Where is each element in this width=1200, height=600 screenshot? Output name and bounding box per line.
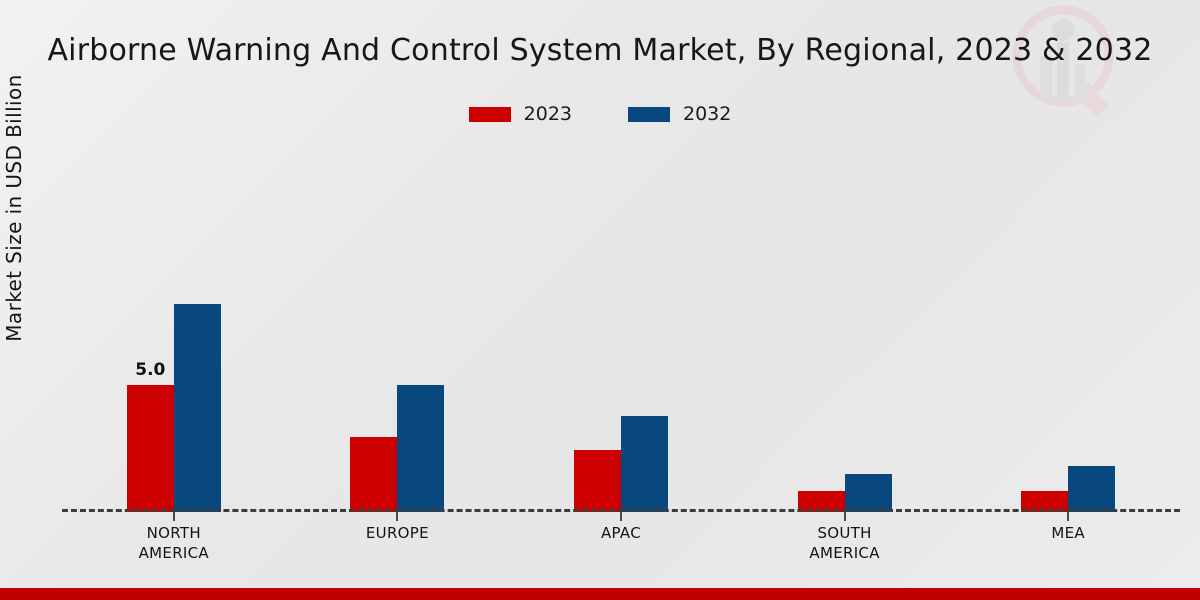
legend-item-2023[interactable]: 2023 [469, 105, 572, 124]
bar-column-2023[interactable] [574, 150, 621, 512]
bar-2032[interactable] [397, 385, 444, 512]
bar-column-2032[interactable] [174, 150, 221, 512]
bar-column-2032[interactable] [621, 150, 668, 512]
bar-2032[interactable] [1068, 466, 1115, 512]
bar-2023[interactable] [350, 437, 397, 512]
bar-column-2032[interactable] [397, 150, 444, 512]
legend-item-2032[interactable]: 2032 [628, 105, 731, 124]
chart-page: Airborne Warning And Control System Mark… [0, 0, 1200, 600]
footer-accent-bar [0, 588, 1200, 600]
bar-column-2023[interactable] [350, 150, 397, 512]
x-axis-category-label: SOUTH AMERICA [809, 524, 879, 564]
bar-pair [574, 150, 668, 512]
x-axis-tick [173, 512, 175, 521]
y-axis-title: Market Size in USD Billion [2, 43, 26, 373]
chart-legend: 2023 2032 [0, 105, 1200, 124]
x-axis-category-label: APAC [601, 524, 641, 544]
plot-area: 5.0NORTH AMERICAEUROPEAPACSOUTH AMERICAM… [62, 150, 1180, 512]
x-axis-category-label: EUROPE [366, 524, 429, 544]
bar-column-2023[interactable]: 5.0 [127, 150, 174, 512]
bar-group: 5.0NORTH AMERICA [62, 150, 286, 512]
bar-group: APAC [509, 150, 733, 512]
legend-label-2032: 2032 [683, 105, 731, 124]
bar-2023[interactable] [574, 450, 621, 512]
bar-group: SOUTH AMERICA [733, 150, 957, 512]
bar-pair: 5.0 [127, 150, 221, 512]
legend-label-2023: 2023 [524, 105, 572, 124]
x-axis-category-label: NORTH AMERICA [139, 524, 209, 564]
bar-group: MEA [956, 150, 1180, 512]
bar-value-label: 5.0 [135, 360, 165, 380]
bar-column-2032[interactable] [1068, 150, 1115, 512]
x-axis-tick [396, 512, 398, 521]
bar-2032[interactable] [174, 304, 221, 512]
x-axis-tick [844, 512, 846, 521]
x-axis-tick [1067, 512, 1069, 521]
bar-2032[interactable] [621, 416, 668, 512]
x-axis-tick [620, 512, 622, 521]
bar-column-2023[interactable] [798, 150, 845, 512]
bar-pair [350, 150, 444, 512]
bar-pair [1021, 150, 1115, 512]
bar-2023[interactable] [127, 385, 174, 512]
bar-2032[interactable] [845, 474, 892, 512]
bar-pair [798, 150, 892, 512]
bar-groups: 5.0NORTH AMERICAEUROPEAPACSOUTH AMERICAM… [62, 150, 1180, 512]
x-axis-category-label: MEA [1051, 524, 1085, 544]
legend-swatch-2023 [469, 107, 511, 122]
bar-column-2032[interactable] [845, 150, 892, 512]
x-axis-baseline [62, 509, 1180, 512]
bar-group: EUROPE [286, 150, 510, 512]
chart-title: Airborne Warning And Control System Mark… [0, 33, 1200, 68]
bar-column-2023[interactable] [1021, 150, 1068, 512]
legend-swatch-2032 [628, 107, 670, 122]
